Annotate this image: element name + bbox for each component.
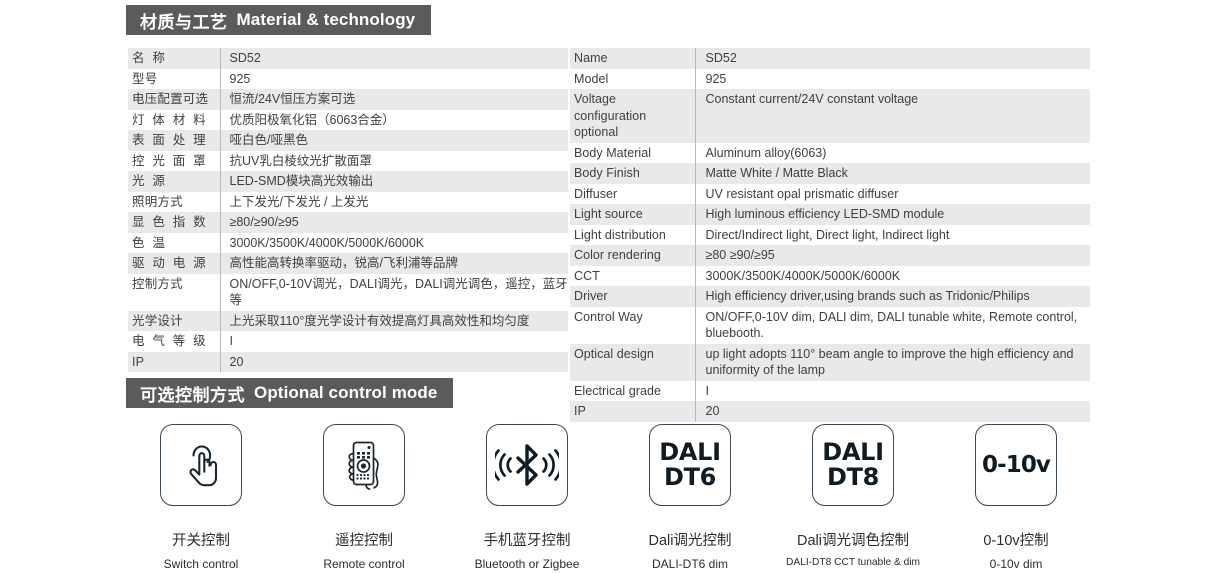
spec-key: Model — [570, 69, 695, 90]
spec-value: Matte White / Matte Black — [695, 163, 1090, 184]
control-mode-label-cn: 遥控控制 — [335, 529, 393, 550]
table-row: Body Material Aluminum alloy(6063) — [570, 143, 1090, 164]
control-mode-switch[interactable]: 开关控制 Switch control — [126, 424, 276, 571]
spec-key: 灯 体 材 料 — [128, 110, 220, 131]
table-row: 名 称 SD52 — [128, 48, 568, 69]
dali-dt6-text-icon-box[interactable]: DALI DT6 — [649, 424, 731, 506]
zero-to-ten-volt-text-icon-box[interactable]: 0-10v — [975, 424, 1057, 506]
control-mode-list: 开关控制 Switch control — [126, 424, 1091, 571]
table-row: 控制方式 ON/OFF,0-10V调光，DALI调光，DALI调光调色，遥控，蓝… — [128, 274, 568, 311]
spec-value: 恒流/24V恒压方案可选 — [220, 89, 568, 110]
table-row: Light source High luminous efficiency LE… — [570, 204, 1090, 225]
spec-value: ≥80/≥90/≥95 — [220, 212, 568, 233]
dali-badge-line2: DT6 — [659, 465, 721, 490]
control-mode-remote[interactable]: 遥控控制 Remote control — [289, 424, 439, 571]
spec-value: ON/OFF,0-10V调光，DALI调光，DALI调光调色，遥控，蓝牙等 — [220, 274, 568, 311]
control-mode-label-cn: Dali调光控制 — [649, 529, 732, 550]
table-row: Voltage configuration optional Constant … — [570, 89, 1090, 143]
spec-key: 名 称 — [128, 48, 220, 69]
spec-value: 抗UV乳白棱纹光扩散面罩 — [220, 151, 568, 172]
spec-table-english: Name SD52 Model 925 Voltage configuratio… — [570, 48, 1090, 422]
spec-value: 20 — [220, 352, 568, 373]
spec-key: Light distribution — [570, 225, 695, 246]
table-row: 表 面 处 理 哑白色/哑黑色 — [128, 130, 568, 151]
control-mode-0-10v[interactable]: 0-10v 0-10v控制 0-10v dim — [941, 424, 1091, 571]
spec-key: 表 面 处 理 — [128, 130, 220, 151]
table-row: IP 20 — [128, 352, 568, 373]
spec-key: Control Way — [570, 307, 695, 344]
spec-value: SD52 — [220, 48, 568, 69]
table-row: 照明方式 上下发光/下发光 / 上发光 — [128, 192, 568, 213]
spec-key: 电 气 等 级 — [128, 331, 220, 352]
section-header-control-mode: 可选控制方式 Optional control mode — [126, 378, 453, 408]
control-mode-label-en: Bluetooth or Zigbee — [475, 557, 580, 571]
table-row: 电 气 等 级 I — [128, 331, 568, 352]
spec-value: I — [695, 381, 1090, 402]
dali-dt8-text-icon-box[interactable]: DALI DT8 — [812, 424, 894, 506]
table-row: Driver High efficiency driver,using bran… — [570, 286, 1090, 307]
spec-value: 优质阳极氧化铝（6063合金） — [220, 110, 568, 131]
table-row: Body Finish Matte White / Matte Black — [570, 163, 1090, 184]
spec-key: 电压配置可选 — [128, 89, 220, 110]
spec-key: Electrical grade — [570, 381, 695, 402]
spec-value: 925 — [695, 69, 1090, 90]
spec-key: 控制方式 — [128, 274, 220, 311]
hand-tap-icon — [178, 440, 224, 490]
spec-value: SD52 — [695, 48, 1090, 69]
spec-value: up light adopts 110° beam angle to impro… — [695, 344, 1090, 381]
spec-value: Aluminum alloy(6063) — [695, 143, 1090, 164]
spec-key: Driver — [570, 286, 695, 307]
spec-value: 上下发光/下发光 / 上发光 — [220, 192, 568, 213]
spec-value: ON/OFF,0-10V dim, DALI dim, DALI tunable… — [695, 307, 1090, 344]
dali-dt8-text-icon: DALI DT8 — [822, 440, 884, 490]
table-row: IP 20 — [570, 401, 1090, 422]
table-row: 驱 动 电 源 高性能高转换率驱动，锐高/飞利浦等品牌 — [128, 253, 568, 274]
dali-badge-line2: DT8 — [822, 465, 884, 490]
section-header-material-cn: 材质与工艺 — [140, 8, 228, 33]
dali-dt6-text-icon: DALI DT6 — [659, 440, 721, 490]
spec-key: CCT — [570, 266, 695, 287]
table-row: 光学设计 上光采取110°度光学设计有效提高灯具高效性和均匀度 — [128, 311, 568, 332]
spec-key: Optical design — [570, 344, 695, 381]
control-mode-bluetooth[interactable]: 手机蓝牙控制 Bluetooth or Zigbee — [452, 424, 602, 571]
hand-remote-icon — [339, 438, 389, 492]
spec-key: Body Material — [570, 143, 695, 164]
spec-value: 高性能高转换率驱动，锐高/飞利浦等品牌 — [220, 253, 568, 274]
table-row: 电压配置可选 恒流/24V恒压方案可选 — [128, 89, 568, 110]
control-mode-label-cn: 0-10v控制 — [983, 529, 1048, 550]
spec-key: Name — [570, 48, 695, 69]
section-header-control-cn: 可选控制方式 — [140, 381, 245, 406]
spec-value: Constant current/24V constant voltage — [695, 89, 1090, 143]
spec-value: 20 — [695, 401, 1090, 422]
table-row: Color rendering ≥80 ≥90/≥95 — [570, 245, 1090, 266]
bluetooth-wave-icon — [495, 442, 559, 488]
spec-value: High efficiency driver,using brands such… — [695, 286, 1090, 307]
table-row: 色 温 3000K/3500K/4000K/5000K/6000K — [128, 233, 568, 254]
spec-value: LED-SMD模块高光效输出 — [220, 171, 568, 192]
spec-value: 上光采取110°度光学设计有效提高灯具高效性和均匀度 — [220, 311, 568, 332]
section-header-material: 材质与工艺 Material & technology — [126, 5, 431, 35]
spec-key: 型号 — [128, 69, 220, 90]
spec-key: 照明方式 — [128, 192, 220, 213]
table-row: Light distribution Direct/Indirect light… — [570, 225, 1090, 246]
table-row: 控 光 面 罩 抗UV乳白棱纹光扩散面罩 — [128, 151, 568, 172]
spec-value: UV resistant opal prismatic diffuser — [695, 184, 1090, 205]
spec-key: IP — [128, 352, 220, 373]
table-row: Diffuser UV resistant opal prismatic dif… — [570, 184, 1090, 205]
section-header-control-en: Optional control mode — [254, 383, 437, 403]
spec-key: 显 色 指 数 — [128, 212, 220, 233]
spec-value: High luminous efficiency LED-SMD module — [695, 204, 1090, 225]
table-row: Control Way ON/OFF,0-10V dim, DALI dim, … — [570, 307, 1090, 344]
spec-key: Body Finish — [570, 163, 695, 184]
table-row: CCT 3000K/3500K/4000K/5000K/6000K — [570, 266, 1090, 287]
section-header-material-en: Material & technology — [237, 10, 416, 30]
control-mode-label-en: DALI-DT8 CCT tunable & dim — [786, 557, 920, 568]
spec-key: IP — [570, 401, 695, 422]
control-mode-label-en: DALI-DT6 dim — [652, 557, 728, 571]
table-row: 显 色 指 数 ≥80/≥90/≥95 — [128, 212, 568, 233]
spec-value: 哑白色/哑黑色 — [220, 130, 568, 151]
spec-value: ≥80 ≥90/≥95 — [695, 245, 1090, 266]
control-mode-label-cn: Dali调光调色控制 — [797, 529, 909, 550]
table-row: Model 925 — [570, 69, 1090, 90]
spec-key: Light source — [570, 204, 695, 225]
spec-table-chinese: 名 称 SD52 型号 925 电压配置可选 恒流/24V恒压方案可选 灯 体 … — [128, 48, 568, 372]
control-mode-label-en: Remote control — [323, 557, 404, 571]
table-row: Electrical grade I — [570, 381, 1090, 402]
zero-to-ten-volt-text-icon: 0-10v — [982, 452, 1050, 478]
spec-key: 控 光 面 罩 — [128, 151, 220, 172]
hand-remote-icon-box[interactable] — [323, 424, 405, 506]
control-mode-label-en: 0-10v dim — [990, 557, 1043, 571]
spec-value: Direct/Indirect light, Direct light, Ind… — [695, 225, 1090, 246]
spec-key: 驱 动 电 源 — [128, 253, 220, 274]
table-row: 光 源 LED-SMD模块高光效输出 — [128, 171, 568, 192]
table-row: 型号 925 — [128, 69, 568, 90]
table-row: Name SD52 — [570, 48, 1090, 69]
spec-key: Voltage configuration optional — [570, 89, 695, 143]
spec-value: I — [220, 331, 568, 352]
control-mode-label-en: Switch control — [164, 557, 239, 571]
spec-key: 光 源 — [128, 171, 220, 192]
spec-key: Color rendering — [570, 245, 695, 266]
dali-badge-line1: DALI — [822, 440, 884, 465]
table-row: 灯 体 材 料 优质阳极氧化铝（6063合金） — [128, 110, 568, 131]
spec-key: Diffuser — [570, 184, 695, 205]
hand-tap-icon-box[interactable] — [160, 424, 242, 506]
dali-badge-line1: DALI — [659, 440, 721, 465]
spec-value: 3000K/3500K/4000K/5000K/6000K — [220, 233, 568, 254]
table-row: Optical design up light adopts 110° beam… — [570, 344, 1090, 381]
control-mode-dali-dt6[interactable]: DALI DT6 Dali调光控制 DALI-DT6 dim — [615, 424, 765, 571]
control-mode-dali-dt8[interactable]: DALI DT8 Dali调光调色控制 DALI-DT8 CCT tunable… — [778, 424, 928, 568]
control-mode-label-cn: 手机蓝牙控制 — [484, 529, 571, 550]
spec-key: 光学设计 — [128, 311, 220, 332]
control-mode-label-cn: 开关控制 — [172, 529, 230, 550]
spec-key: 色 温 — [128, 233, 220, 254]
spec-value: 925 — [220, 69, 568, 90]
bluetooth-wave-icon-box[interactable] — [486, 424, 568, 506]
spec-value: 3000K/3500K/4000K/5000K/6000K — [695, 266, 1090, 287]
